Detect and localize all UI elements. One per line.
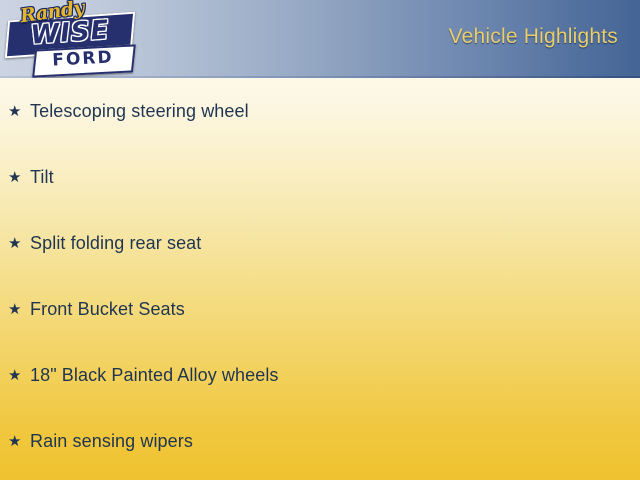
feature-label: Split folding rear seat [30, 233, 201, 254]
feature-label: Front Bucket Seats [30, 299, 185, 320]
page-title: Vehicle Highlights [449, 25, 618, 49]
list-item: ★Telescoping steering wheel [0, 78, 640, 144]
star-icon: ★ [8, 302, 30, 317]
feature-label: 18" Black Painted Alloy wheels [30, 365, 279, 386]
dealer-logo[interactable]: Randy WISE FORD [4, 0, 136, 78]
feature-label: Rain sensing wipers [30, 431, 193, 452]
star-icon: ★ [8, 104, 30, 119]
feature-label: Tilt [30, 167, 54, 188]
vehicle-highlights-page: Randy WISE FORD Vehicle Highlights ★Tele… [0, 0, 640, 480]
feature-label: Telescoping steering wheel [30, 101, 249, 122]
list-item: ★18" Black Painted Alloy wheels [0, 342, 640, 408]
list-item: ★Rain sensing wipers [0, 408, 640, 474]
star-icon: ★ [8, 170, 30, 185]
vehicle-highlights-list: ★Telescoping steering wheel★Tilt★Split f… [0, 78, 640, 474]
list-item: ★Front Bucket Seats [0, 276, 640, 342]
list-item: ★Tilt [0, 144, 640, 210]
star-icon: ★ [8, 236, 30, 251]
star-icon: ★ [8, 434, 30, 449]
star-icon: ★ [8, 368, 30, 383]
page-header: Randy WISE FORD Vehicle Highlights [0, 0, 640, 78]
list-item: ★Split folding rear seat [0, 210, 640, 276]
